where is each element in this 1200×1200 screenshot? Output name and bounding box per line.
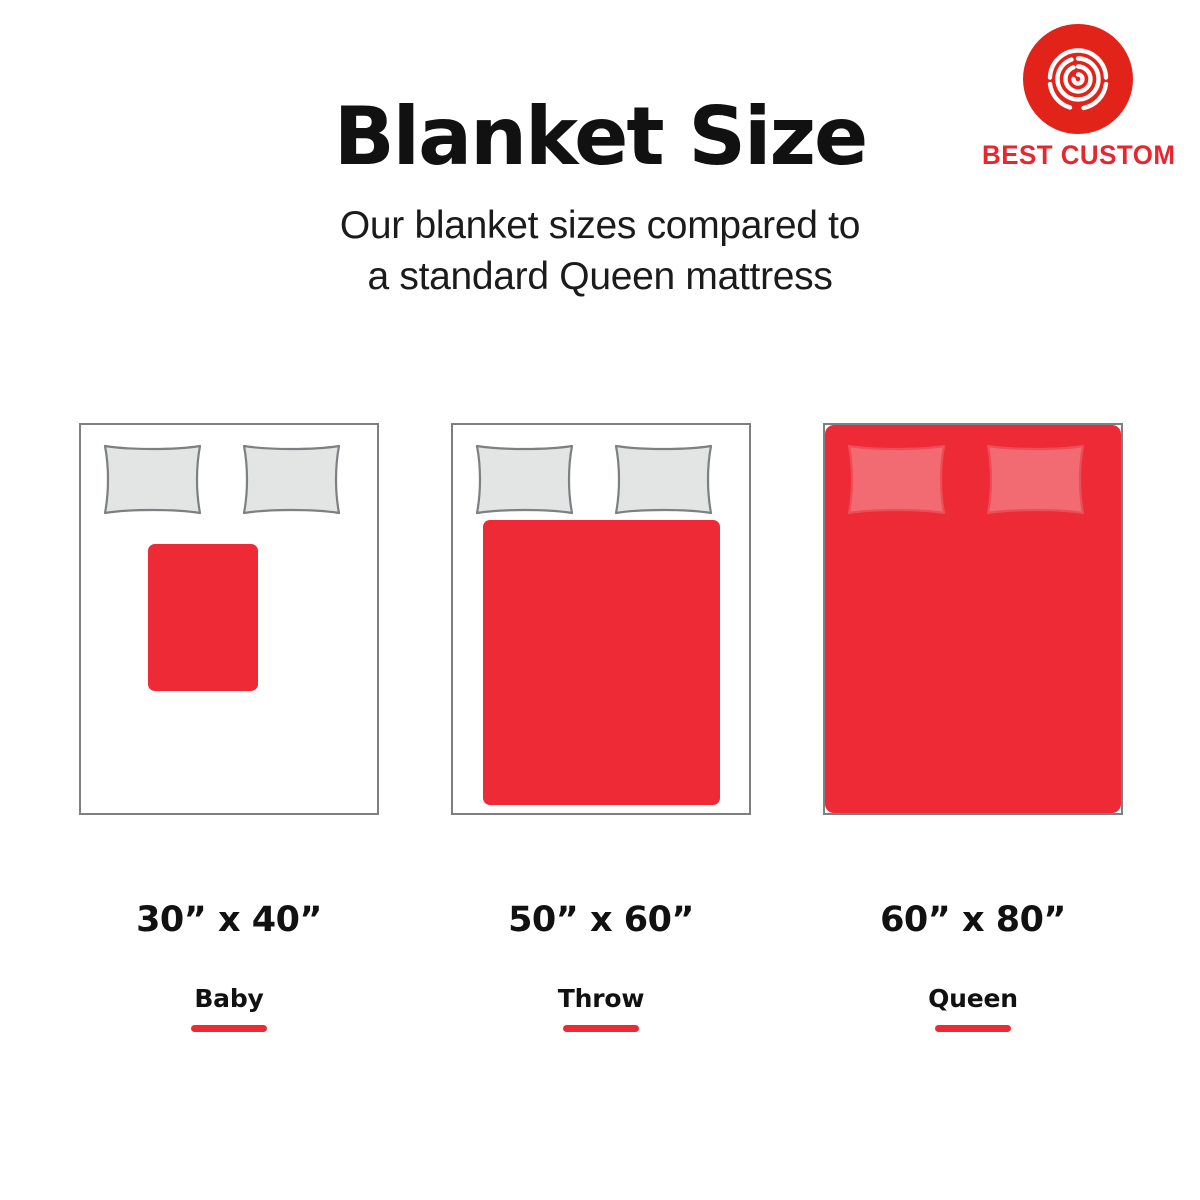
blanket-shape-baby bbox=[148, 544, 258, 691]
subtitle-line-2: a standard Queen mattress bbox=[0, 251, 1200, 302]
accent-underline bbox=[935, 1025, 1011, 1032]
pillow-icon bbox=[611, 442, 716, 517]
bed-diagram-queen bbox=[823, 423, 1123, 815]
pillow-icon bbox=[472, 442, 577, 517]
bed-comparison-row bbox=[0, 423, 1200, 823]
caption-queen: 60” x 80” Queen bbox=[823, 900, 1123, 1032]
accent-underline bbox=[563, 1025, 639, 1032]
header: Blanket Size Our blanket sizes compared … bbox=[0, 96, 1200, 303]
page-subtitle: Our blanket sizes compared to a standard… bbox=[0, 200, 1200, 303]
pillow-icon bbox=[983, 442, 1088, 517]
pillow-icon bbox=[844, 442, 949, 517]
caption-throw: 50” x 60” Throw bbox=[451, 900, 751, 1032]
caption-row: 30” x 40” Baby 50” x 60” Throw 60” x 80”… bbox=[0, 900, 1200, 1050]
size-dimensions: 30” x 40” bbox=[79, 900, 379, 940]
pillow-icon bbox=[239, 442, 344, 517]
bed-diagram-throw bbox=[451, 423, 751, 815]
size-dimensions: 60” x 80” bbox=[823, 900, 1123, 940]
accent-underline bbox=[191, 1025, 267, 1032]
size-name: Queen bbox=[823, 984, 1123, 1013]
pillow-icon bbox=[100, 442, 205, 517]
page-title: Blanket Size bbox=[0, 96, 1200, 178]
size-dimensions: 50” x 60” bbox=[451, 900, 751, 940]
bed-diagram-baby bbox=[79, 423, 379, 815]
blanket-shape-throw bbox=[483, 520, 720, 805]
size-name: Throw bbox=[451, 984, 751, 1013]
size-name: Baby bbox=[79, 984, 379, 1013]
subtitle-line-1: Our blanket sizes compared to bbox=[0, 200, 1200, 251]
caption-baby: 30” x 40” Baby bbox=[79, 900, 379, 1032]
